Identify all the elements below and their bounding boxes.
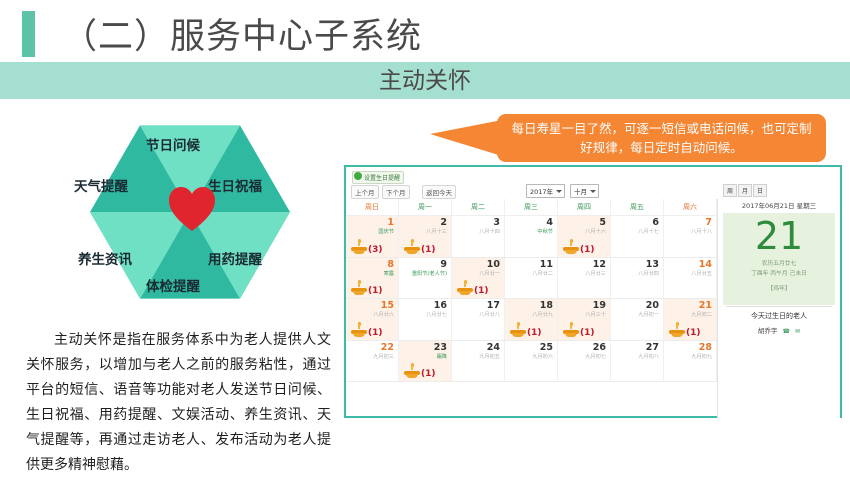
- calendar-day-19[interactable]: 19八月三十(1): [558, 299, 611, 340]
- calendar-day-18[interactable]: 18八月廿九(1): [505, 299, 558, 340]
- day-number: 25: [540, 342, 553, 353]
- cake-icon: [351, 241, 367, 255]
- month-select[interactable]: 十月: [570, 184, 599, 198]
- sidebar-date-line: 2017年06月21日 星期三: [718, 199, 840, 213]
- weekday-header-5: 周五: [611, 199, 664, 215]
- birthday-count: (1): [421, 245, 436, 255]
- cake-icon: [404, 365, 420, 379]
- day-number: 10: [487, 259, 500, 270]
- calendar-sidebar: 2017年06月21日 星期三 21 农历五月廿七 丁酉年 丙午月 己未日 【鸡…: [718, 199, 840, 418]
- cake-icon: [510, 324, 526, 338]
- day-number: 14: [699, 259, 712, 270]
- day-number: 20: [646, 300, 659, 311]
- day-lunar-label: 八月廿四: [638, 270, 659, 277]
- day-number: 12: [593, 259, 606, 270]
- sidebar-lunar-line: 农历五月廿七: [723, 259, 835, 269]
- day-lunar-label: 八月廿三: [585, 270, 606, 277]
- birthday-marker[interactable]: (1): [404, 241, 436, 255]
- page-header: （二）服务中心子系统: [0, 0, 850, 62]
- day-lunar-label: 九月初一: [638, 311, 659, 318]
- birthday-marker[interactable]: (1): [404, 365, 436, 379]
- calendar-toolbar: 设置生日提醒 上个月 下个月 返回今天 2017年 十月 周 月 日: [346, 167, 840, 199]
- day-number: 6: [652, 217, 659, 228]
- calendar-day-25[interactable]: 25九月初六: [505, 341, 558, 382]
- birthday-marker[interactable]: (1): [351, 282, 383, 296]
- day-lunar-label: 重阳节(老人节): [412, 270, 447, 277]
- sidebar-ganzhi-line: 丁酉年 丙午月 己未日: [723, 269, 835, 279]
- calendar-day-17[interactable]: 17八月廿八: [452, 299, 505, 340]
- birthday-marker[interactable]: (1): [510, 324, 542, 338]
- day-number: 4: [546, 217, 553, 228]
- calendar-day-23[interactable]: 23霜降(1): [399, 341, 452, 382]
- day-lunar-label: 八月廿九: [532, 311, 553, 318]
- day-lunar-label: 八月十七: [638, 228, 659, 235]
- calendar-application: 设置生日提醒 上个月 下个月 返回今天 2017年 十月 周 月 日 周日周一周…: [344, 165, 842, 418]
- calendar-day-1[interactable]: 1国庆节(3): [346, 216, 399, 257]
- weekday-header-2: 周二: [452, 199, 505, 215]
- view-toggle-week[interactable]: 周: [723, 184, 737, 197]
- day-number: 19: [593, 300, 606, 311]
- description-paragraph: 主动关怀是指在服务体系中为老人提供人文关怀服务，以增加与老人之前的服务粘性，通过…: [26, 328, 331, 478]
- calendar-day-11[interactable]: 11八月廿二: [505, 258, 558, 299]
- day-lunar-label: 九月初二: [691, 311, 712, 318]
- day-lunar-label: 九月初三: [373, 353, 394, 360]
- heart-icon: [166, 184, 218, 234]
- day-number: 26: [593, 342, 606, 353]
- calendar-day-28[interactable]: 28九月初九: [664, 341, 717, 382]
- day-lunar-label: 九月初九: [691, 353, 712, 360]
- calendar-day-16[interactable]: 16八月廿七: [399, 299, 452, 340]
- day-lunar-label: 中秋节: [537, 228, 553, 235]
- birthday-marker[interactable]: (1): [351, 324, 383, 338]
- day-number: 13: [646, 259, 659, 270]
- calendar-day-13[interactable]: 13八月廿四: [611, 258, 664, 299]
- day-number: 9: [440, 259, 447, 270]
- day-lunar-label: 霜降: [437, 353, 447, 360]
- sidebar-today-card: 21 农历五月廿七 丁酉年 丙午月 己未日 【鸡年】: [723, 213, 835, 305]
- weekday-header-1: 周一: [399, 199, 452, 215]
- calendar-day-22[interactable]: 22九月初三: [346, 341, 399, 382]
- day-number: 11: [540, 259, 553, 270]
- day-lunar-label: 八月廿二: [532, 270, 553, 277]
- calendar-day-3[interactable]: 3八月十四: [452, 216, 505, 257]
- calendar-day-21[interactable]: 21九月初二(1): [664, 299, 717, 340]
- hex-label-health-news: 养生资讯: [78, 248, 132, 268]
- birthday-count: (1): [580, 245, 595, 255]
- cake-icon: [669, 324, 685, 338]
- calendar-day-12[interactable]: 12八月廿三: [558, 258, 611, 299]
- day-number: 15: [381, 300, 394, 311]
- birthday-count: (1): [368, 286, 383, 296]
- page-subtitle: 主动关怀: [0, 63, 850, 99]
- sidebar-divider: [726, 306, 832, 307]
- calendar-day-7[interactable]: 7八月十八: [664, 216, 717, 257]
- day-number: 8: [387, 259, 394, 270]
- calendar-day-15[interactable]: 15八月廿六(1): [346, 299, 399, 340]
- hexagon-diagram: 节日问候 生日祝福 用药提醒 体检提醒 养生资讯 天气提醒: [50, 112, 330, 312]
- calendar-day-27[interactable]: 27九月初八: [611, 341, 664, 382]
- day-lunar-label: 八月廿一: [479, 270, 500, 277]
- birthday-count: (1): [580, 328, 595, 338]
- cake-icon: [351, 324, 367, 338]
- weekday-header-0: 周日: [346, 199, 399, 215]
- calendar-day-14[interactable]: 14八月廿五: [664, 258, 717, 299]
- calendar-day-8[interactable]: 8寒露(1): [346, 258, 399, 299]
- message-icon[interactable]: ✉: [795, 328, 800, 335]
- day-lunar-label: 寒露: [384, 270, 394, 277]
- calendar-day-10[interactable]: 10八月廿一(1): [452, 258, 505, 299]
- calendar-day-5[interactable]: 5八月十六(1): [558, 216, 611, 257]
- day-number: 7: [705, 217, 712, 228]
- birthday-count: (1): [527, 328, 542, 338]
- page-title: （二）服务中心子系统: [62, 8, 422, 59]
- cake-icon: [563, 324, 579, 338]
- calendar-day-2[interactable]: 2八月十三(1): [399, 216, 452, 257]
- day-number: 5: [599, 217, 606, 228]
- calendar-day-24[interactable]: 24九月初五: [452, 341, 505, 382]
- day-number: 17: [487, 300, 500, 311]
- day-number: 23: [434, 342, 447, 353]
- calendar-week-row: 15八月廿六(1)16八月廿七17八月廿八18八月廿九(1)19八月三十(1)2…: [346, 299, 717, 341]
- callout-bubble: 每日寿星一目了然，可逐一短信或电话问候，也可定制好规律，每日定时自动问候。: [497, 114, 826, 162]
- birthday-marker[interactable]: (1): [563, 241, 595, 255]
- day-lunar-label: 九月初七: [585, 353, 606, 360]
- calendar-day-4[interactable]: 4中秋节: [505, 216, 558, 257]
- birthday-marker[interactable]: (1): [563, 324, 595, 338]
- weekday-header-4: 周四: [558, 199, 611, 215]
- back-to-today-button[interactable]: 返回今天: [422, 185, 456, 199]
- calendar-week-row: 8寒露(1)9重阳节(老人节)10八月廿一(1)11八月廿二12八月廿三13八月…: [346, 258, 717, 300]
- day-lunar-label: 九月初六: [532, 353, 553, 360]
- birthday-marker[interactable]: (3): [351, 241, 383, 255]
- cake-icon: [404, 241, 420, 255]
- calendar-grid: 周日周一周二周三周四周五周六 1国庆节(3)2八月十三(1)3八月十四4中秋节5…: [346, 199, 718, 418]
- day-number: 18: [540, 300, 553, 311]
- sidebar-person-name: 胡乔宇: [758, 327, 778, 335]
- day-lunar-label: 八月廿八: [479, 311, 500, 318]
- day-number: 1: [387, 217, 394, 228]
- cake-icon: [563, 241, 579, 255]
- sidebar-birthday-title: 今天过生日的老人: [718, 311, 840, 321]
- year-select[interactable]: 2017年: [526, 184, 565, 198]
- day-lunar-label: 八月十八: [691, 228, 712, 235]
- weekday-header-row: 周日周一周二周三周四周五周六: [346, 199, 717, 216]
- cake-icon: [457, 282, 473, 296]
- calendar-week-row: 22九月初三23霜降(1)24九月初五25九月初六26九月初七27九月初八28九…: [346, 341, 717, 383]
- header-accent-bar: [22, 11, 35, 57]
- day-lunar-label: 八月十四: [479, 228, 500, 235]
- day-number: 21: [699, 300, 712, 311]
- hex-label-medication-reminder: 用药提醒: [208, 248, 262, 268]
- day-lunar-label: 国庆节: [378, 228, 394, 235]
- day-number: 24: [487, 342, 500, 353]
- day-lunar-label: 八月十三: [426, 228, 447, 235]
- calendar-day-20[interactable]: 20九月初一: [611, 299, 664, 340]
- birthday-count: (3): [368, 245, 383, 255]
- day-number: 28: [699, 342, 712, 353]
- phone-icon[interactable]: ☎: [782, 328, 789, 335]
- weekday-header-6: 周六: [664, 199, 717, 215]
- hex-label-checkup-reminder: 体检提醒: [146, 275, 200, 295]
- day-lunar-label: 八月廿七: [426, 311, 447, 318]
- birthday-marker[interactable]: (1): [457, 282, 489, 296]
- day-number: 2: [440, 217, 447, 228]
- calendar-week-row: 1国庆节(3)2八月十三(1)3八月十四4中秋节5八月十六(1)6八月十七7八月…: [346, 216, 717, 258]
- day-lunar-label: 八月三十: [585, 311, 606, 318]
- sidebar-birthday-person[interactable]: 胡乔宇 ☎ ✉: [718, 325, 840, 335]
- sidebar-zodiac-line: 【鸡年】: [723, 284, 835, 294]
- hex-label-festival-greeting: 节日问候: [146, 134, 200, 154]
- calendar-day-6[interactable]: 6八月十七: [611, 216, 664, 257]
- callout-text: 每日寿星一目了然，可逐一短信或电话问候，也可定制好规律，每日定时自动问候。: [507, 120, 816, 157]
- hex-label-weather-reminder: 天气提醒: [74, 175, 128, 195]
- calendar-weeks: 1国庆节(3)2八月十三(1)3八月十四4中秋节5八月十六(1)6八月十七7八月…: [346, 216, 717, 382]
- day-lunar-label: 九月初八: [638, 353, 659, 360]
- day-lunar-label: 八月十六: [585, 228, 606, 235]
- birthday-count: (1): [686, 328, 701, 338]
- day-number: 16: [434, 300, 447, 311]
- settings-plus-icon: [354, 172, 362, 180]
- calendar-day-9[interactable]: 9重阳节(老人节): [399, 258, 452, 299]
- day-number: 22: [381, 342, 394, 353]
- next-month-button[interactable]: 下个月: [382, 185, 410, 199]
- birthday-count: (1): [474, 286, 489, 296]
- cake-icon: [351, 282, 367, 296]
- day-lunar-label: 八月廿五: [691, 270, 712, 277]
- birthday-count: (1): [421, 369, 436, 379]
- birthday-marker[interactable]: (1): [669, 324, 701, 338]
- day-number: 3: [493, 217, 500, 228]
- day-lunar-label: 八月廿六: [373, 311, 394, 318]
- day-number: 27: [646, 342, 659, 353]
- weekday-header-3: 周三: [505, 199, 558, 215]
- birthday-count: (1): [368, 328, 383, 338]
- sidebar-big-day: 21: [723, 213, 835, 259]
- view-toggle-day[interactable]: 日: [753, 184, 767, 197]
- calendar-day-26[interactable]: 26九月初七: [558, 341, 611, 382]
- day-lunar-label: 九月初五: [479, 353, 500, 360]
- callout-tail: [430, 120, 502, 156]
- prev-month-button[interactable]: 上个月: [351, 185, 379, 199]
- view-toggle-month[interactable]: 月: [738, 184, 752, 197]
